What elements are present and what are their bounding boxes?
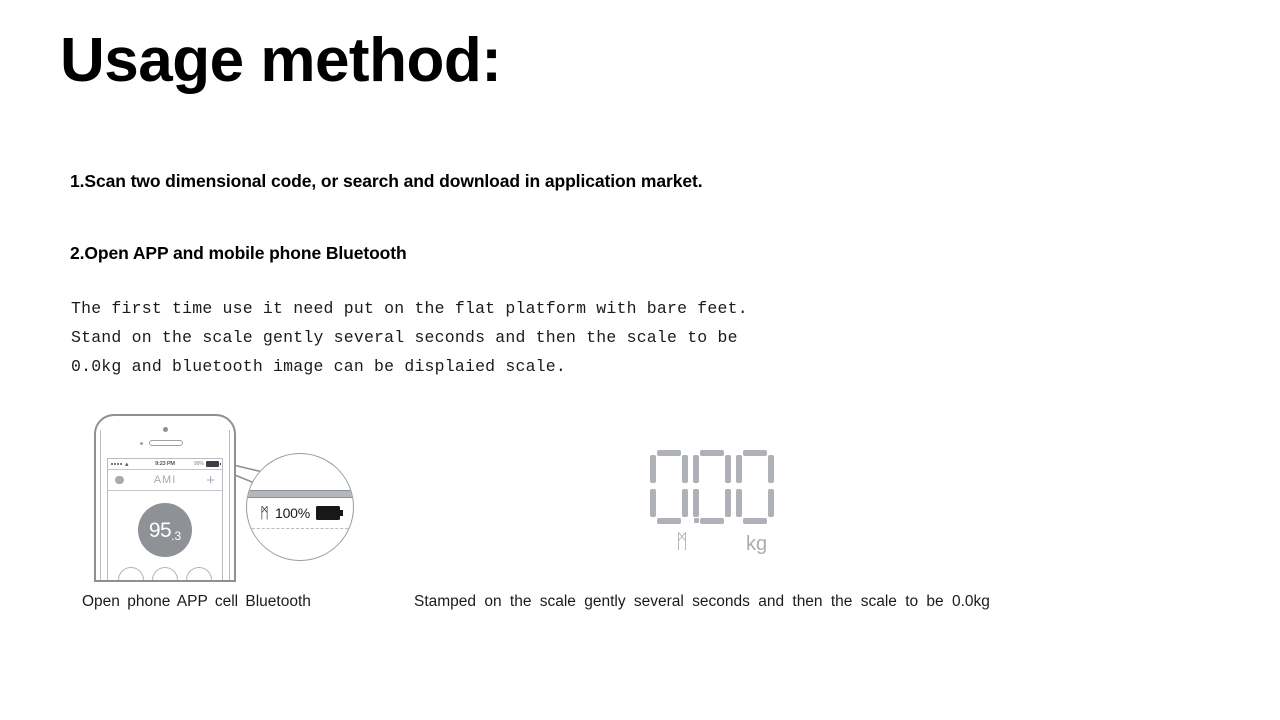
- lcd-digit: [736, 450, 774, 524]
- lcd-unit-label: kg: [746, 534, 767, 554]
- dome-shape: [186, 567, 212, 580]
- dome-shape: [152, 567, 178, 580]
- camera-icon: [163, 427, 168, 432]
- battery-full-icon: [206, 461, 219, 467]
- magnifier-callout: ᛗ 100%: [246, 453, 354, 561]
- status-bar-time: 9:23 PM: [108, 461, 222, 467]
- phone-status-bar: ▴ 9:23 PM 99%: [108, 459, 222, 470]
- earpiece-speaker-icon: [149, 440, 183, 446]
- scale-display-illustration: ᛗ kg: [650, 450, 820, 575]
- step-2-text: 2.Open APP and mobile phone Bluetooth: [70, 243, 407, 264]
- lcd-digit-group: [650, 450, 774, 524]
- phone-screen: ▴ 9:23 PM 99% AMI + 95 .3: [107, 458, 223, 580]
- lcd-decimal-point: [694, 518, 699, 523]
- step-1-text: 1.Scan two dimensional code, or search a…: [70, 171, 702, 192]
- sensor-icon: [140, 442, 143, 445]
- metric-domes: [114, 567, 216, 580]
- app-title: AMI: [108, 474, 222, 486]
- bluetooth-icon: ᛗ: [260, 506, 269, 521]
- lcd-digit: [693, 450, 731, 524]
- weight-circle: 95 .3: [138, 503, 192, 557]
- bluetooth-icon: ᛗ: [676, 532, 688, 552]
- page-title: Usage method:: [60, 28, 501, 93]
- app-header-bar: AMI +: [108, 470, 222, 491]
- magnifier-battery-percent: 100%: [275, 505, 310, 521]
- battery-full-icon: [316, 506, 340, 520]
- dome-shape: [118, 567, 144, 580]
- magnifier-content: ᛗ 100%: [247, 502, 353, 524]
- caption-phone: Open phone APP cell Bluetooth: [82, 593, 311, 611]
- phone-body: ▴ 9:23 PM 99% AMI + 95 .3: [94, 414, 236, 582]
- lcd-digit: [650, 450, 688, 524]
- magnifier-dashed-line: [247, 528, 353, 529]
- weight-integer: 95: [149, 520, 171, 541]
- caption-scale: Stamped on the scale gently several seco…: [414, 593, 990, 611]
- magnifier-bar: [247, 490, 353, 498]
- intro-paragraph: The first time use it need put on the fl…: [71, 294, 748, 381]
- phone-illustration: ▴ 9:23 PM 99% AMI + 95 .3: [86, 408, 396, 578]
- weight-decimal: .3: [171, 530, 181, 542]
